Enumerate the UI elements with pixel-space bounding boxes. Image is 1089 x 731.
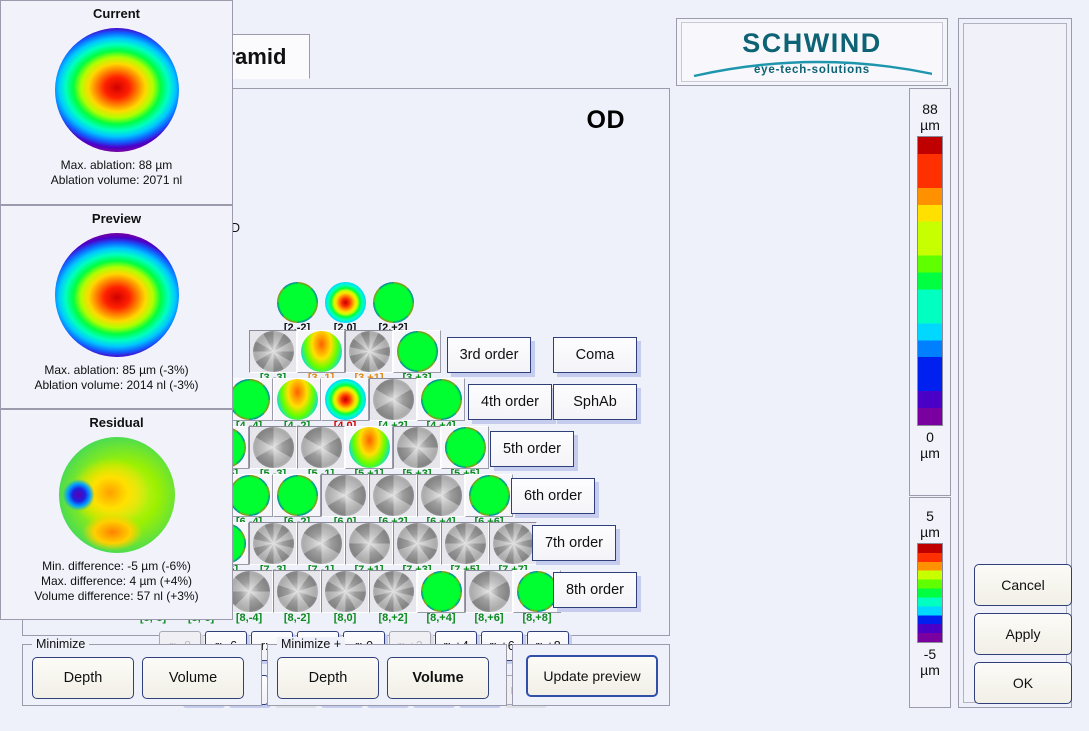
zernike-term-6-+4[interactable]: [6,+4] bbox=[417, 473, 465, 521]
residual-map-stats: Min. difference: -5 µm (-6%) Max. differ… bbox=[1, 559, 232, 604]
minimize-plus-depth-label: Depth bbox=[309, 670, 348, 686]
zernike-term-label: [8,0] bbox=[334, 612, 357, 624]
current-map-title: Current bbox=[1, 6, 232, 21]
ablation-colorbar-max: 88 µm bbox=[910, 101, 950, 133]
zernike-term-7-+5[interactable]: [7,+5] bbox=[441, 521, 489, 569]
minimize-plus-group: Minimize + Depth Volume bbox=[267, 644, 507, 706]
zernike-term-5-+3[interactable]: [5,+3] bbox=[393, 425, 441, 473]
current-ablation-map bbox=[55, 28, 179, 152]
apply-button[interactable]: Apply bbox=[974, 613, 1072, 655]
cancel-button-label: Cancel bbox=[1001, 577, 1045, 593]
zernike-term-4-+4[interactable]: [4,+4] bbox=[417, 377, 465, 425]
brand-logo-panel: SCHWIND eye-tech-solutions bbox=[676, 18, 948, 86]
zernike-term-label: [8,+2] bbox=[378, 612, 407, 624]
action-panel-inner: Cancel Apply OK bbox=[963, 23, 1067, 703]
zernike-term-3--3[interactable]: [3,-3] bbox=[249, 329, 297, 377]
zernike-term-2--2[interactable]: [2,-2] bbox=[273, 281, 321, 329]
minimize-depth-label: Depth bbox=[64, 670, 103, 686]
zernike-term-8--2[interactable]: [8,-2] bbox=[273, 569, 321, 617]
zernike-term-6-+6[interactable]: [6,+6] bbox=[465, 473, 513, 521]
residual-colorbar-min: -5 µm bbox=[910, 646, 950, 678]
zernike-term-label: [8,+4] bbox=[426, 612, 455, 624]
residual-max-difference: Max. difference: 4 µm (+4%) bbox=[1, 574, 232, 589]
zernike-term-5--3[interactable]: [5,-3] bbox=[249, 425, 297, 473]
zernike-term-icon bbox=[465, 570, 513, 613]
zernike-term-icon bbox=[441, 522, 489, 565]
preview-map-section: Preview Max. ablation: 85 µm (-3%) Ablat… bbox=[0, 205, 233, 409]
zernike-term-icon bbox=[393, 426, 441, 469]
minimize-plus-group-title: Minimize + bbox=[277, 637, 345, 651]
sphab-button[interactable]: SphAb bbox=[553, 384, 637, 420]
residual-map-section: Residual Min. difference: -5 µm (-6%) Ma… bbox=[0, 409, 233, 620]
minimize-plus-volume-button[interactable]: Volume bbox=[387, 657, 489, 699]
zernike-term-8-+2[interactable]: [8,+2] bbox=[369, 569, 417, 617]
zernike-term-icon bbox=[369, 282, 417, 323]
preview-map-title: Preview bbox=[1, 211, 232, 226]
zernike-term-2-0[interactable]: [2,0] bbox=[321, 281, 369, 329]
update-preview-button[interactable]: Update preview bbox=[526, 655, 658, 697]
zernike-term-8-+6[interactable]: [8,+6] bbox=[465, 569, 513, 617]
zernike-term-7--1[interactable]: [7,-1] bbox=[297, 521, 345, 569]
order-button-8th[interactable]: 8th order bbox=[553, 572, 637, 608]
zernike-term-icon bbox=[417, 570, 465, 613]
ablation-colorbar-panel: 88 µm 0 µm bbox=[909, 88, 951, 496]
zernike-term-7-+3[interactable]: [7,+3] bbox=[393, 521, 441, 569]
zernike-term-6--2[interactable]: [6,-2] bbox=[273, 473, 321, 521]
zernike-term-label: [8,+6] bbox=[474, 612, 503, 624]
preview-map-stats: Max. ablation: 85 µm (-3%) Ablation volu… bbox=[1, 363, 232, 393]
zernike-term-3-+3[interactable]: [3,+3] bbox=[393, 329, 441, 377]
zernike-term-icon bbox=[273, 378, 321, 421]
zernike-term-8-+4[interactable]: [8,+4] bbox=[417, 569, 465, 617]
order-button-5th-label: 5th order bbox=[503, 441, 561, 457]
zernike-term-icon bbox=[369, 570, 417, 613]
zernike-term-label: [8,-4] bbox=[236, 612, 262, 624]
brand-logo: SCHWIND eye-tech-solutions bbox=[681, 22, 943, 82]
residual-colorbar-max: 5 µm bbox=[910, 508, 950, 540]
current-max-ablation: Max. ablation: 88 µm bbox=[1, 158, 232, 173]
zernike-term-icon bbox=[297, 426, 345, 469]
zernike-term-3-+1[interactable]: [3,+1] bbox=[345, 329, 393, 377]
ablation-colorbar-min-value: 0 bbox=[910, 429, 950, 445]
coma-button[interactable]: Coma bbox=[553, 337, 637, 373]
zernike-term-icon bbox=[489, 522, 537, 565]
zernike-term-8-0[interactable]: [8,0] bbox=[321, 569, 369, 617]
zernike-term-icon bbox=[441, 426, 489, 469]
zernike-term-4-+2[interactable]: [4,+2] bbox=[369, 377, 417, 425]
residual-colorbar-min-value: -5 bbox=[910, 646, 950, 662]
zernike-term-label: [8,+8] bbox=[522, 612, 551, 624]
zernike-term-icon bbox=[345, 426, 393, 469]
minimize-group-title: Minimize bbox=[32, 637, 89, 651]
zernike-term-icon bbox=[369, 474, 417, 517]
residual-map bbox=[59, 437, 175, 553]
zernike-term-6-+2[interactable]: [6,+2] bbox=[369, 473, 417, 521]
current-map-section: Current Max. ablation: 88 µm Ablation vo… bbox=[0, 0, 233, 205]
preview-max-ablation: Max. ablation: 85 µm (-3%) bbox=[1, 363, 232, 378]
preview-ablation-volume: Ablation volume: 2014 nl (-3%) bbox=[1, 378, 232, 393]
order-button-6th[interactable]: 6th order bbox=[511, 478, 595, 514]
minimize-depth-button[interactable]: Depth bbox=[32, 657, 134, 699]
order-button-8th-label: 8th order bbox=[566, 582, 624, 598]
action-panel: Cancel Apply OK bbox=[958, 18, 1072, 708]
zernike-term-icon bbox=[369, 378, 417, 421]
ablation-colorbar-max-value: 88 bbox=[910, 101, 950, 117]
minimize-plus-volume-label: Volume bbox=[412, 670, 463, 686]
zernike-term-icon bbox=[273, 474, 321, 517]
zernike-term-icon bbox=[345, 522, 393, 565]
order-button-6th-label: 6th order bbox=[524, 488, 582, 504]
residual-colorbar-panel: 5 µm -5 µm bbox=[909, 497, 951, 708]
zernike-term-icon bbox=[321, 378, 369, 421]
zernike-term-label: [8,-2] bbox=[284, 612, 310, 624]
ok-button-label: OK bbox=[1013, 675, 1033, 691]
zernike-term-6-0[interactable]: [6,0] bbox=[321, 473, 369, 521]
update-preview-group: Update preview bbox=[512, 644, 670, 706]
minimize-group: Minimize Depth Volume bbox=[22, 644, 262, 706]
zernike-term-4-0[interactable]: [4,0] bbox=[321, 377, 369, 425]
zernike-term-icon bbox=[249, 426, 297, 469]
residual-map-title: Residual bbox=[1, 415, 232, 430]
zernike-term-icon bbox=[393, 330, 441, 373]
order-button-7th[interactable]: 7th order bbox=[532, 525, 616, 561]
zernike-term-icon bbox=[345, 330, 393, 373]
zernike-term-3--1[interactable]: [3,-1] bbox=[297, 329, 345, 377]
ok-button[interactable]: OK bbox=[974, 662, 1072, 704]
ablation-colorbar bbox=[917, 136, 943, 426]
residual-colorbar-max-unit: µm bbox=[910, 524, 950, 540]
zernike-term-5--1[interactable]: [5,-1] bbox=[297, 425, 345, 473]
ablation-colorbar-max-unit: µm bbox=[910, 117, 950, 133]
zernike-term-icon bbox=[321, 474, 369, 517]
update-preview-label: Update preview bbox=[543, 668, 640, 684]
zernike-term-7-+1[interactable]: [7,+1] bbox=[345, 521, 393, 569]
zernike-term-2-+2[interactable]: [2,+2] bbox=[369, 281, 417, 329]
sphab-button-label: SphAb bbox=[573, 394, 617, 410]
zernike-term-5-+5[interactable]: [5,+5] bbox=[441, 425, 489, 473]
residual-colorbar bbox=[917, 543, 943, 643]
apply-button-label: Apply bbox=[1005, 626, 1040, 642]
residual-colorbar-max-value: 5 bbox=[910, 508, 950, 524]
pyramid-row-order-4: [4,-4][4,-2][4,0][4,+2][4,+4] bbox=[225, 377, 465, 425]
residual-min-difference: Min. difference: -5 µm (-6%) bbox=[1, 559, 232, 574]
ablation-colorbar-min: 0 µm bbox=[910, 429, 950, 461]
zernike-term-icon bbox=[417, 378, 465, 421]
current-map-stats: Max. ablation: 88 µm Ablation volume: 20… bbox=[1, 158, 232, 188]
zernike-term-icon bbox=[393, 522, 441, 565]
zernike-term-icon bbox=[321, 570, 369, 613]
order-button-3rd-label: 3rd order bbox=[460, 347, 519, 363]
minimize-volume-button[interactable]: Volume bbox=[142, 657, 244, 699]
order-button-5th[interactable]: 5th order bbox=[490, 431, 574, 467]
zernike-term-icon bbox=[321, 282, 369, 323]
current-ablation-volume: Ablation volume: 2071 nl bbox=[1, 173, 232, 188]
zernike-term-7-+7[interactable]: [7,+7] bbox=[489, 521, 537, 569]
brand-tagline: eye-tech-solutions bbox=[682, 64, 942, 76]
pyramid-row-order-5: [5,-5][5,-3][5,-1][5,+1][5,+3][5,+5] bbox=[201, 425, 489, 473]
zernike-term-icon bbox=[273, 282, 321, 323]
cancel-button[interactable]: Cancel bbox=[974, 564, 1072, 606]
ablation-maps-panel: Current Max. ablation: 88 µm Ablation vo… bbox=[0, 0, 233, 620]
zernike-term-icon bbox=[249, 522, 297, 565]
order-button-3rd[interactable]: 3rd order bbox=[447, 337, 531, 373]
residual-colorbar-min-unit: µm bbox=[910, 662, 950, 678]
coma-button-label: Coma bbox=[576, 347, 615, 363]
minimize-plus-depth-button[interactable]: Depth bbox=[277, 657, 379, 699]
ablation-colorbar-min-unit: µm bbox=[910, 445, 950, 461]
zernike-term-icon bbox=[297, 330, 345, 373]
zernike-term-7--3[interactable]: [7,-3] bbox=[249, 521, 297, 569]
residual-volume-difference: Volume difference: 57 nl (+3%) bbox=[1, 589, 232, 604]
zernike-term-icon bbox=[249, 330, 297, 373]
zernike-term-icon bbox=[273, 570, 321, 613]
zernike-term-5-+1[interactable]: [5,+1] bbox=[345, 425, 393, 473]
zernike-term-icon bbox=[465, 474, 513, 517]
order-button-7th-label: 7th order bbox=[545, 535, 603, 551]
zernike-term-icon bbox=[417, 474, 465, 517]
zernike-term-4--2[interactable]: [4,-2] bbox=[273, 377, 321, 425]
minimize-volume-label: Volume bbox=[169, 670, 217, 686]
order-button-4th-label: 4th order bbox=[481, 394, 539, 410]
order-button-4th[interactable]: 4th order bbox=[468, 384, 552, 420]
zernike-term-icon bbox=[297, 522, 345, 565]
pyramid-row-order-3: [3,-3][3,-1][3,+1][3,+3] bbox=[249, 329, 441, 377]
preview-ablation-map bbox=[55, 233, 179, 357]
pyramid-row-order-2: [2,-2][2,0][2,+2] bbox=[273, 281, 417, 329]
